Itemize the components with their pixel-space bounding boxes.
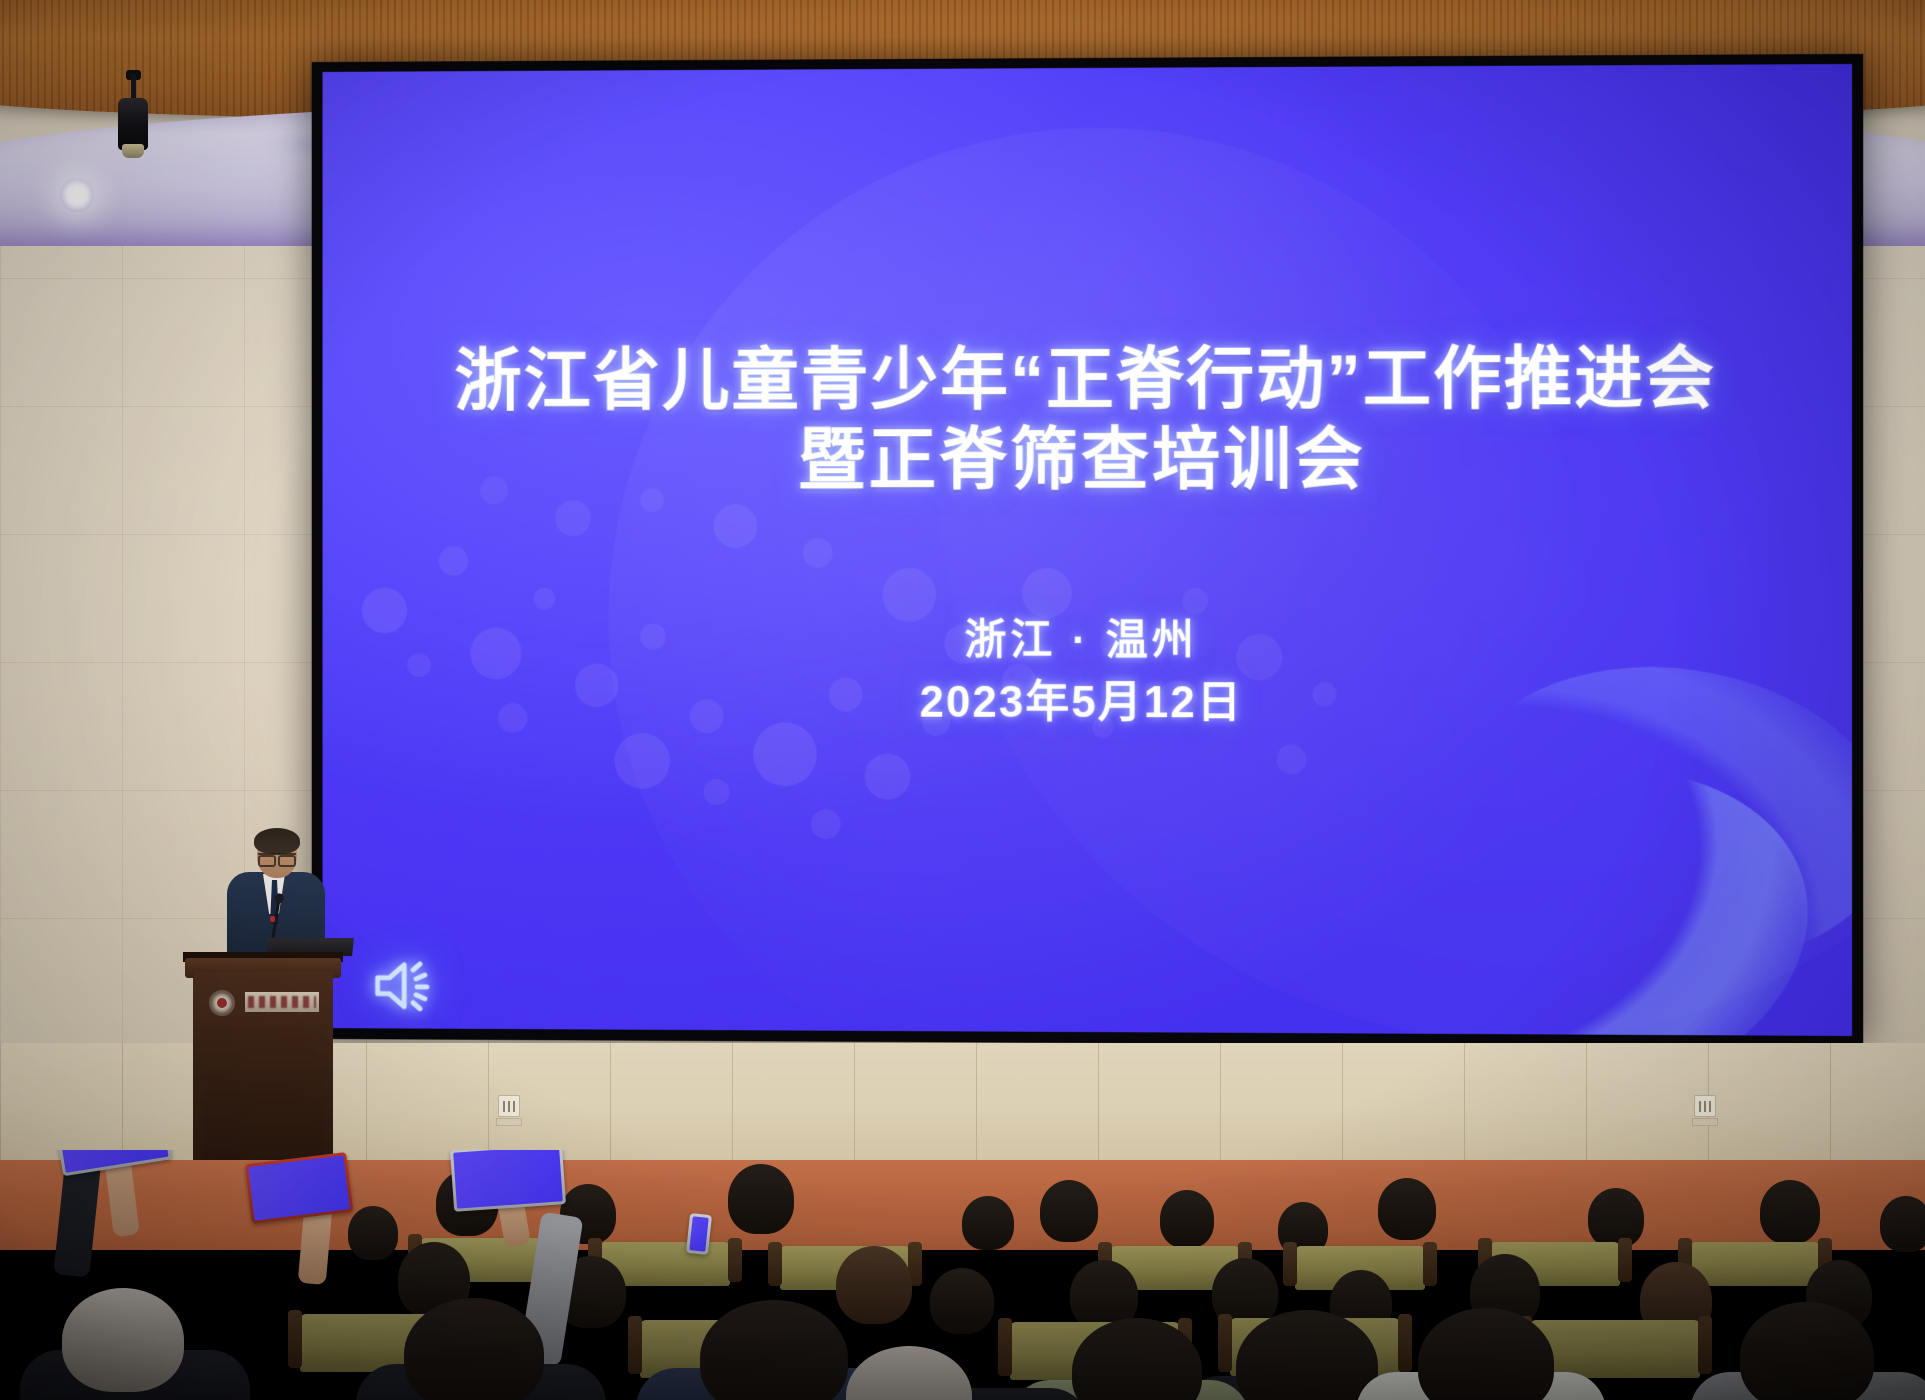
audience-head [728, 1164, 794, 1234]
podium-plaque-text [248, 996, 316, 1008]
auditorium-photo: 浙江省儿童青少年“正脊行动”工作推进会 暨正脊筛查培训会 浙江 · 温州 202… [0, 0, 1925, 1400]
audience-head [1378, 1178, 1436, 1240]
audience-head [700, 1300, 848, 1400]
slide-content: 浙江省儿童青少年“正脊行动”工作推进会 暨正脊筛查培训会 浙江 · 温州 202… [323, 64, 1853, 1036]
audience-head [1880, 1196, 1925, 1252]
audience-head [62, 1288, 184, 1392]
audience-head [1760, 1180, 1820, 1244]
wall-socket-plate [496, 1118, 522, 1126]
audience-head [348, 1206, 398, 1260]
audience-area [0, 1150, 1925, 1400]
slide-location: 浙江 · 温州 [920, 610, 1243, 671]
podium-skirt [203, 1026, 323, 1160]
slide-date: 2023年5月12日 [920, 671, 1243, 735]
podium-with-speaker [185, 830, 345, 1160]
microphone-indicator-light [270, 916, 275, 922]
raised-phone[interactable] [450, 1150, 566, 1212]
slide-title-line-2: 暨正脊筛查培训会 [454, 419, 1716, 500]
podium-name-plaque [245, 992, 319, 1012]
presenter-hair [254, 828, 300, 854]
led-screen-frame: 浙江省儿童青少年“正脊行动”工作推进会 暨正脊筛查培训会 浙江 · 温州 202… [312, 54, 1864, 1047]
audience-head [962, 1196, 1014, 1250]
presenter-glasses [258, 853, 296, 862]
stage-spotlight [118, 74, 148, 166]
led-screen: 浙江省儿童青少年“正脊行动”工作推进会 暨正脊筛查培训会 浙江 · 温州 202… [323, 64, 1853, 1036]
audience-head [1588, 1188, 1644, 1248]
speaker-volume-icon[interactable] [374, 958, 435, 1014]
wall-power-socket [1694, 1095, 1716, 1117]
slide-title-line-1: 浙江省儿童青少年“正脊行动”工作推进会 [454, 339, 1716, 422]
audience-head [846, 1346, 972, 1400]
raised-phone[interactable] [245, 1152, 354, 1224]
audience-head [930, 1268, 994, 1334]
auditorium-seat [1690, 1242, 1820, 1286]
downlight [60, 178, 94, 212]
wall-power-socket [498, 1095, 520, 1117]
auditorium-seat [1530, 1320, 1700, 1378]
audience-head [404, 1298, 544, 1400]
wall-socket-plate [1692, 1118, 1718, 1126]
audience-head [1160, 1190, 1214, 1248]
slide-title: 浙江省儿童青少年“正脊行动”工作推进会 暨正脊筛查培训会 [454, 339, 1716, 501]
audience-head [836, 1246, 912, 1324]
audience-head [1040, 1180, 1098, 1242]
institution-seal-emblem [209, 990, 235, 1016]
raised-phone[interactable] [686, 1213, 712, 1255]
slide-subtitle: 浙江 · 温州 2023年5月12日 [920, 610, 1243, 735]
